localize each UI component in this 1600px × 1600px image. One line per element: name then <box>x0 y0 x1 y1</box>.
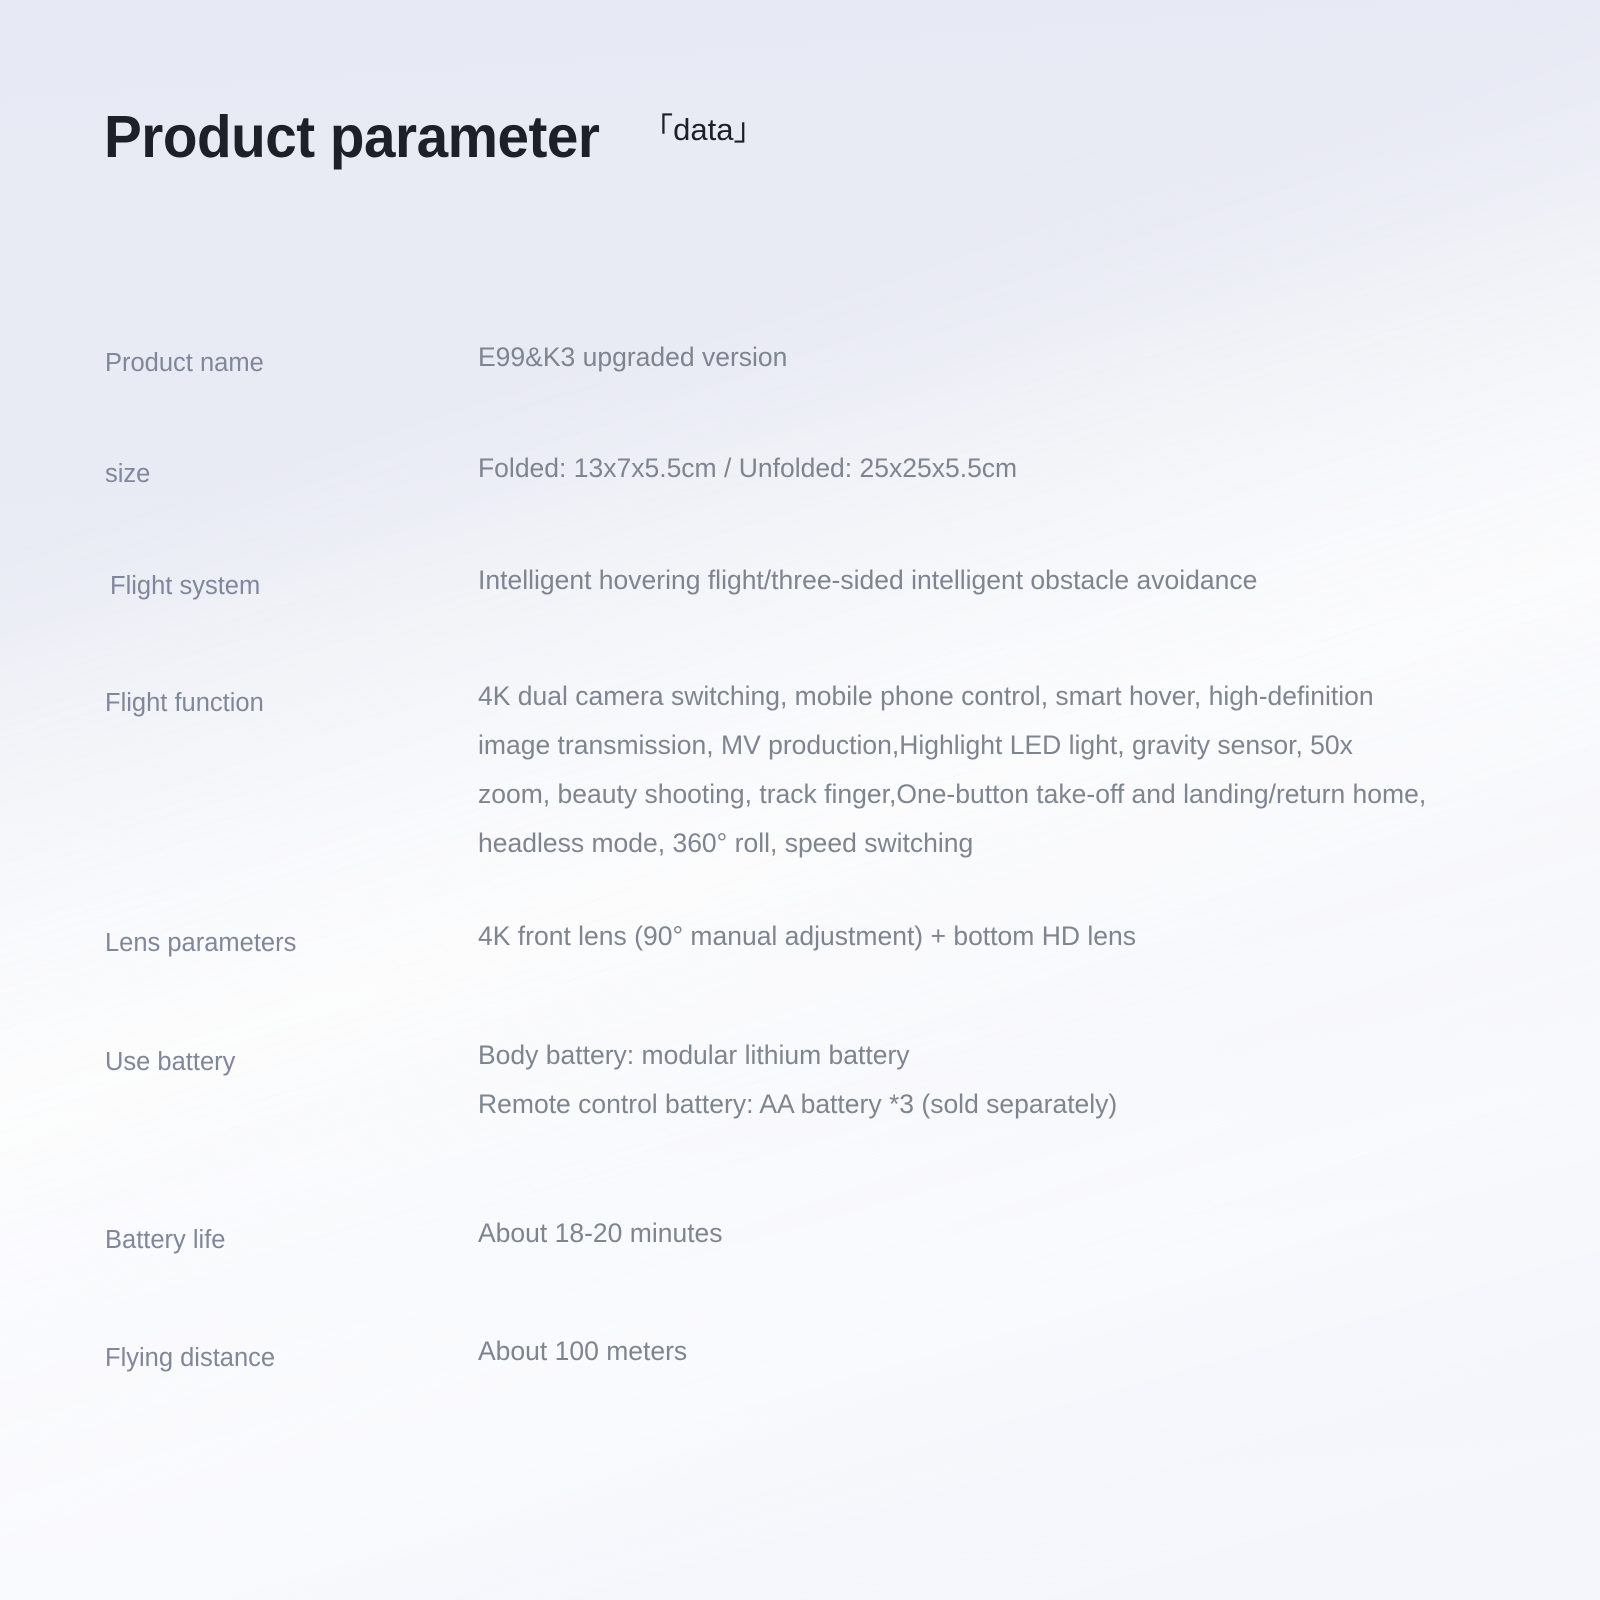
spec-row-value: 4K dual camera switching, mobile phone c… <box>478 672 1426 868</box>
page-title: Product parameter 「data」 <box>104 108 764 167</box>
spec-value-line: About 100 meters <box>478 1327 687 1376</box>
spec-row-value: About 18-20 minutes <box>478 1209 723 1258</box>
spec-value-line: 4K dual camera switching, mobile phone c… <box>478 672 1426 721</box>
spec-row-label: Product name <box>105 348 264 380</box>
spec-row-value: Folded: 13x7x5.5cm / Unfolded: 25x25x5.5… <box>478 444 1017 493</box>
spec-row-label: Flying distance <box>105 1343 275 1375</box>
page-title-main: Product parameter <box>104 108 599 167</box>
spec-row-value: About 100 meters <box>478 1327 687 1376</box>
spec-row-label: Flight system <box>110 571 260 603</box>
spec-value-line: Intelligent hovering flight/three-sided … <box>478 556 1257 605</box>
spec-row-label: Battery life <box>105 1225 225 1257</box>
spec-row-label: Lens parameters <box>105 928 296 960</box>
spec-row-value: Body battery: modular lithium batteryRem… <box>478 1031 1117 1129</box>
spec-value-line: Folded: 13x7x5.5cm / Unfolded: 25x25x5.5… <box>478 444 1017 493</box>
product-parameter-page: Product parameter 「data」 Product nameE99… <box>0 0 1600 1600</box>
spec-value-line: Remote control battery: AA battery *3 (s… <box>478 1080 1117 1129</box>
page-title-subtitle: 「data」 <box>642 114 764 145</box>
spec-row-label: Flight function <box>105 688 264 720</box>
spec-value-line: image transmission, MV production,Highli… <box>478 721 1426 770</box>
spec-row-value: 4K front lens (90° manual adjustment) + … <box>478 912 1136 961</box>
spec-value-line: About 18-20 minutes <box>478 1209 723 1258</box>
spec-value-line: headless mode, 360° roll, speed switchin… <box>478 819 1426 868</box>
spec-value-line: 4K front lens (90° manual adjustment) + … <box>478 912 1136 961</box>
spec-row-value: Intelligent hovering flight/three-sided … <box>478 556 1257 605</box>
spec-value-line: Body battery: modular lithium battery <box>478 1031 1117 1080</box>
spec-row-label: size <box>105 459 150 491</box>
spec-row-value: E99&K3 upgraded version <box>478 333 787 382</box>
spec-value-line: zoom, beauty shooting, track finger,One-… <box>478 770 1426 819</box>
spec-row-label: Use battery <box>105 1047 235 1079</box>
spec-value-line: E99&K3 upgraded version <box>478 333 787 382</box>
